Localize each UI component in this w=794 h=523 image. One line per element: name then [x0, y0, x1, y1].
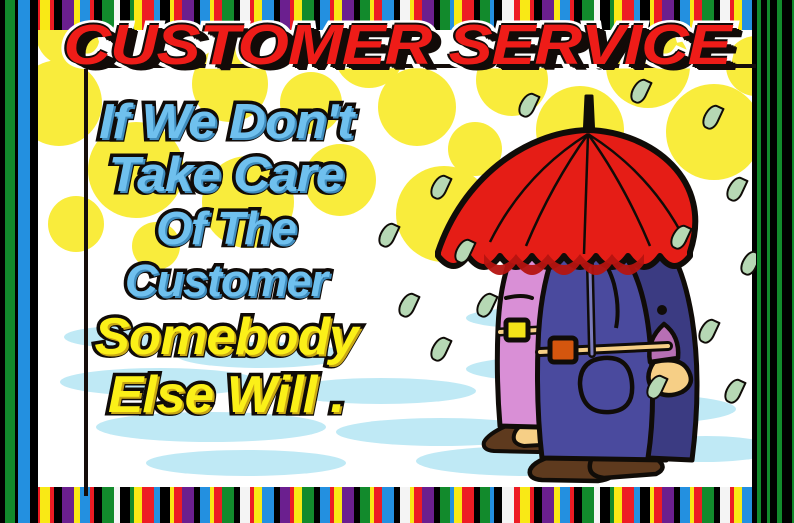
border-stripe [120, 487, 130, 523]
border-stripe [462, 487, 474, 523]
message-block: If We Don't Take Care Of The Customer So… [46, 96, 406, 424]
border-stripe [54, 487, 62, 523]
message-line: Customer [46, 254, 406, 308]
border-stripe [294, 487, 302, 523]
border-stripe [622, 487, 634, 523]
border-stripe [600, 487, 610, 523]
border-stripe [454, 487, 462, 523]
border-stripe [160, 487, 170, 523]
border-stripe [302, 487, 314, 523]
border-stripe [222, 487, 234, 523]
woman-pocket [506, 296, 532, 298]
border-stripe [34, 0, 38, 523]
border-stripe [254, 487, 262, 523]
border-stripe [614, 487, 622, 523]
illustration-svg [428, 84, 756, 484]
border-stripe [694, 487, 702, 523]
border-stripe [702, 487, 714, 523]
border-stripe [94, 487, 102, 523]
border-stripe [280, 487, 290, 523]
border-stripe [382, 487, 394, 523]
border-stripe [534, 487, 542, 523]
border-stripe [18, 0, 25, 523]
border-stripe [662, 487, 674, 523]
border-stripe [142, 487, 154, 523]
customer-service-poster: CUSTOMER SERVICE If We Don't Take Care O… [0, 0, 794, 523]
border-stripe [542, 487, 554, 523]
border-stripe [200, 487, 210, 523]
umbrella-canopy [438, 130, 695, 267]
border-stripe [334, 487, 342, 523]
border-stripe [520, 487, 530, 523]
border-stripe [654, 487, 662, 523]
border-stripe [360, 487, 370, 523]
border-stripe [502, 487, 514, 523]
border-stripe [494, 487, 502, 523]
border-stripe [480, 487, 490, 523]
border-stripe [62, 487, 74, 523]
border-stripe [80, 487, 90, 523]
man-belt-buckle [550, 338, 576, 362]
border-stripe [374, 487, 382, 523]
border-stripe [214, 487, 222, 523]
border-stripe [102, 487, 114, 523]
border-stripes-bottom [0, 487, 794, 523]
border-stripe [582, 487, 594, 523]
border-stripe [262, 487, 274, 523]
border-stripe [770, 0, 777, 523]
message-line: If We Don't [37, 96, 415, 148]
border-stripes-right [752, 0, 794, 523]
border-stripe [574, 487, 582, 523]
message-line: Of The [46, 202, 406, 254]
border-stripe [174, 487, 182, 523]
border-stripe [40, 487, 50, 523]
border-stripe [680, 487, 690, 523]
border-stripe [560, 487, 570, 523]
border-stripe [422, 487, 434, 523]
border-stripe [320, 487, 330, 523]
umbrella [438, 96, 695, 275]
border-stripe [734, 487, 742, 523]
message-line: Take Care [37, 148, 415, 202]
puddle [146, 450, 346, 476]
man-hand-lower [648, 360, 690, 395]
border-stripes-left [0, 0, 38, 523]
umbrella-couple-illustration [428, 84, 756, 484]
message-line: Somebody [42, 308, 409, 366]
border-stripe [440, 487, 450, 523]
message-line: Else Will . [42, 366, 409, 424]
border-stripe [720, 487, 730, 523]
border-stripe [134, 487, 142, 523]
page-title: CUSTOMER SERVICE [0, 14, 794, 76]
border-stripe [342, 487, 354, 523]
border-stripe [400, 487, 410, 523]
border-stripe [240, 487, 250, 523]
man-coat-button [657, 305, 667, 315]
border-stripe [182, 487, 194, 523]
woman-belt-buckle [506, 320, 528, 340]
border-stripe [414, 487, 422, 523]
border-stripe [640, 487, 650, 523]
